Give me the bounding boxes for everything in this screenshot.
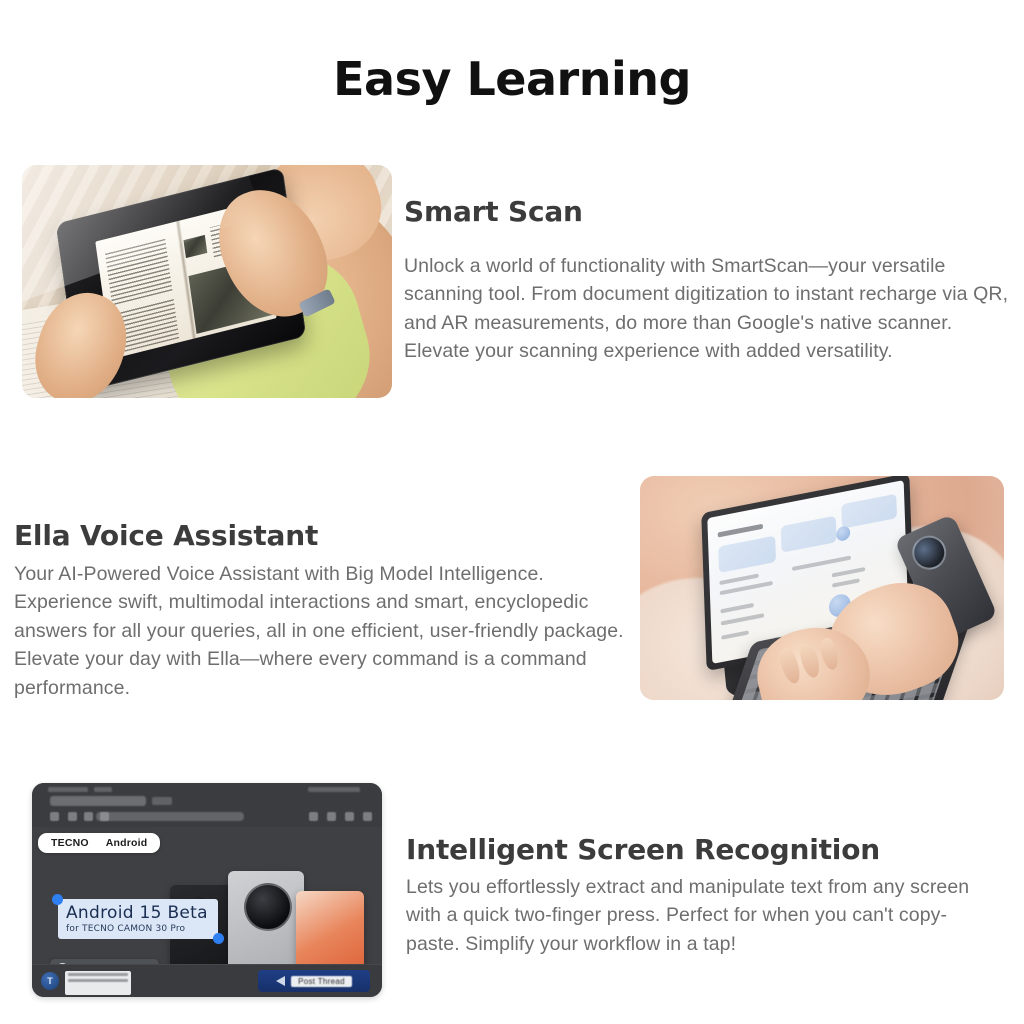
ella-voice-assistant-image — [640, 476, 1004, 700]
page-title: Easy Learning — [0, 52, 1024, 106]
home-icon[interactable] — [50, 812, 59, 821]
tablet-browser-screenshot: TECNO Android Android 15 Beta for TECNO — [32, 783, 382, 997]
selected-text-title: Android 15 Beta — [66, 903, 210, 923]
phone-camera-module — [907, 530, 952, 575]
tabs-icon[interactable] — [345, 812, 354, 821]
badge-platform: Android — [106, 837, 148, 849]
intelligent-screen-recognition-body: Lets you effortlessly extract and manipu… — [406, 873, 996, 959]
post-thread-button[interactable]: Post Thread — [258, 970, 370, 992]
address-bar[interactable] — [96, 812, 244, 821]
ella-voice-assistant-body: Your AI-Powered Voice Assistant with Big… — [14, 560, 634, 703]
selected-text-subtitle: for TECNO CAMON 30 Pro — [66, 924, 210, 934]
badge-brand: TECNO — [51, 837, 89, 849]
back-icon[interactable] — [68, 812, 77, 821]
avatar[interactable]: T — [41, 972, 59, 990]
send-icon — [276, 976, 285, 986]
page-content: TECNO Android Android 15 Beta for TECNO — [32, 827, 382, 965]
bookmark-icon[interactable] — [327, 812, 336, 821]
selection-handle-start[interactable] — [52, 894, 63, 905]
menu-icon[interactable] — [363, 812, 372, 821]
ella-voice-assistant-heading: Ella Voice Assistant — [14, 519, 318, 552]
intelligent-screen-recognition-image: TECNO Android Android 15 Beta for TECNO — [22, 775, 392, 1005]
forward-icon[interactable] — [84, 812, 93, 821]
tecno-android-badge: TECNO Android — [38, 833, 160, 853]
smart-scan-body: Unlock a world of functionality with Sma… — [404, 252, 1014, 366]
selected-text-block[interactable]: Android 15 Beta for TECNO CAMON 30 Pro — [58, 899, 218, 939]
intelligent-screen-recognition-heading: Intelligent Screen Recognition — [406, 833, 880, 866]
browser-tab[interactable] — [50, 796, 146, 806]
smart-scan-heading: Smart Scan — [404, 195, 583, 228]
account-tooltip — [65, 971, 131, 995]
share-icon[interactable] — [309, 812, 318, 821]
phone-camera-module — [244, 883, 292, 931]
selection-handle-end[interactable] — [213, 933, 224, 944]
smart-scan-image — [22, 165, 392, 398]
post-thread-label: Post Thread — [291, 976, 352, 987]
browser-chrome — [32, 783, 382, 827]
composer-bottom-bar: T Post Thread — [32, 964, 382, 997]
